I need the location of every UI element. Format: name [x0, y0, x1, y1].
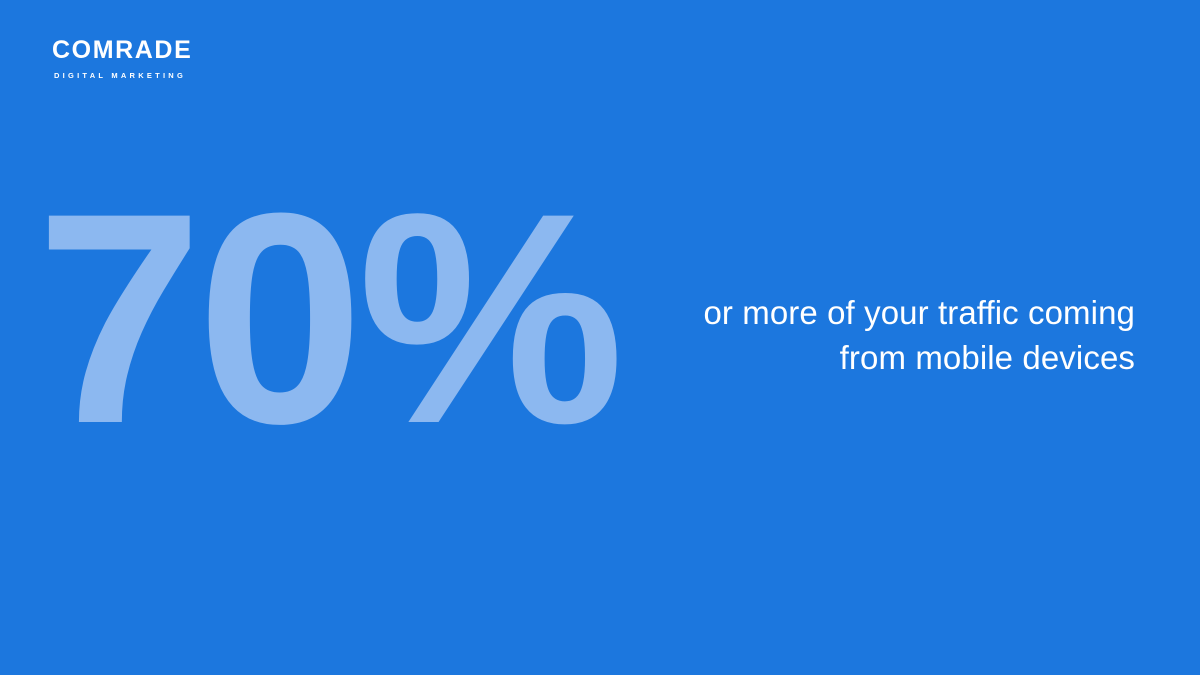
- stat-description-line-1: or more of your traffic coming: [615, 290, 1135, 335]
- stat-description: or more of your traffic coming from mobi…: [615, 290, 1135, 380]
- statistic-block: 70% or more of your traffic coming from …: [0, 0, 1200, 675]
- stat-description-line-2: from mobile devices: [615, 335, 1135, 380]
- stat-value: 70%: [36, 168, 618, 468]
- slide-canvas: COMRADE DIGITAL MARKETING 70% or more of…: [0, 0, 1200, 675]
